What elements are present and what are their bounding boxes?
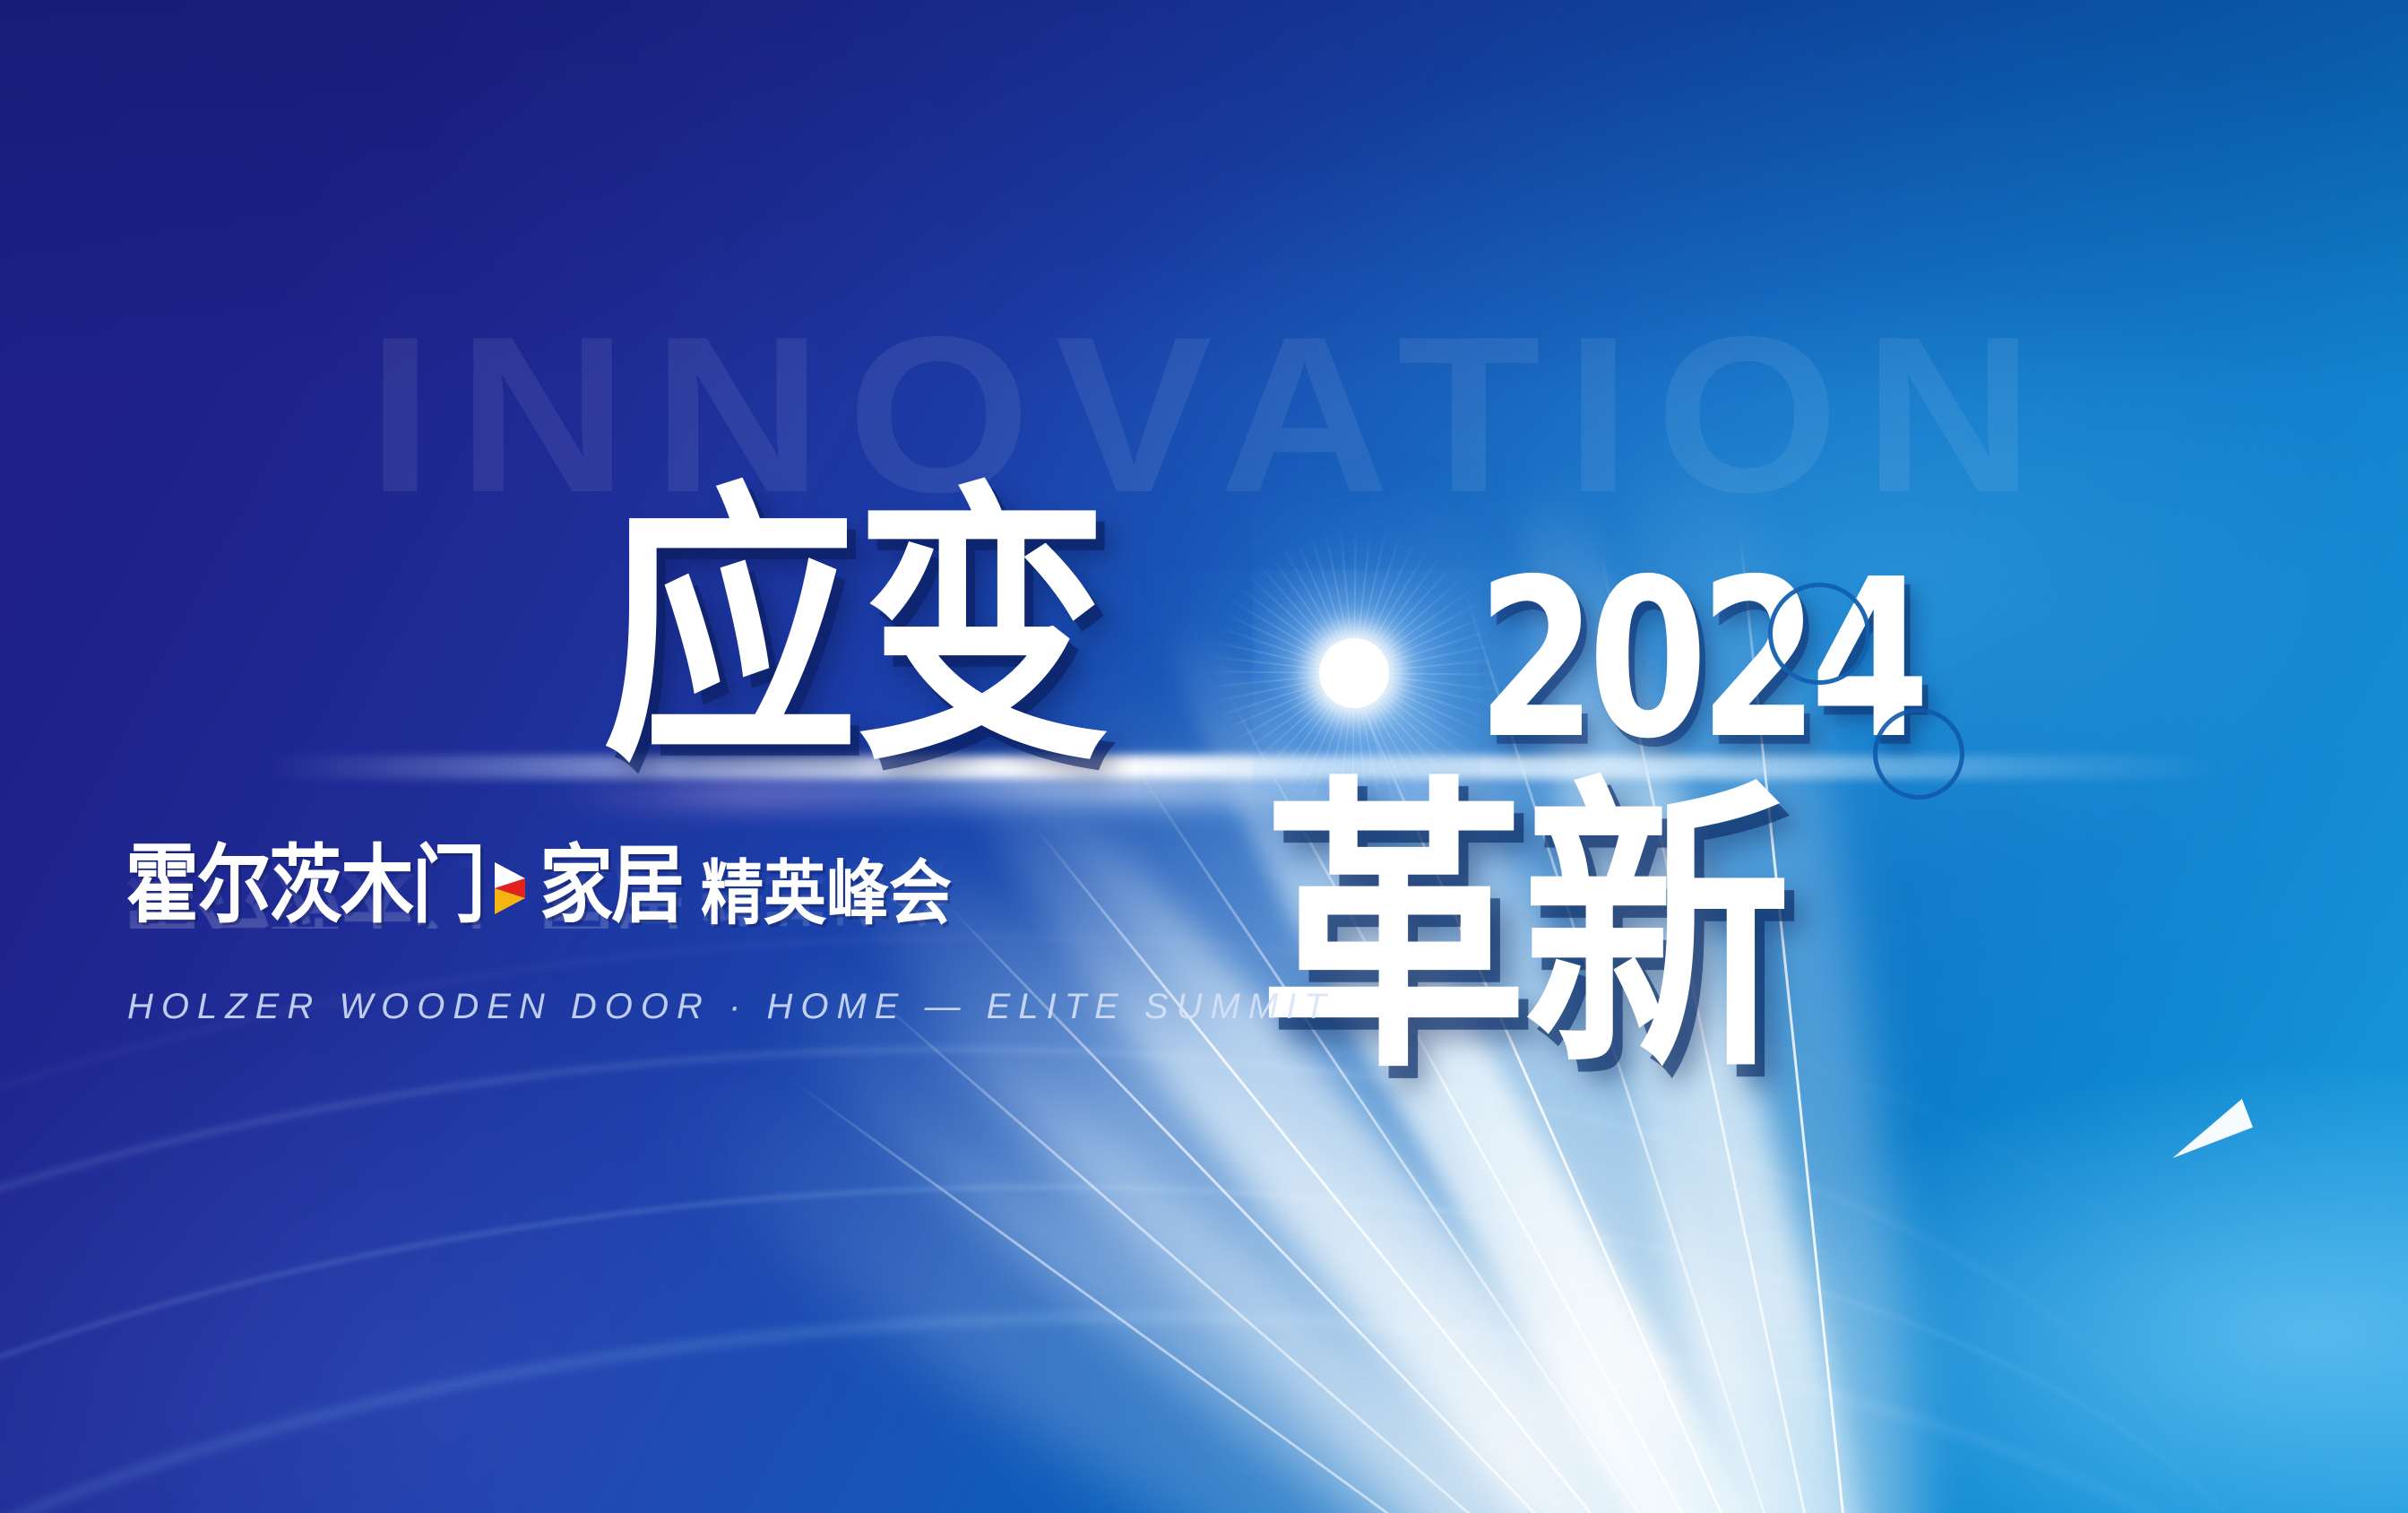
horizon-light-line <box>269 756 2222 779</box>
beam-arrow-accent <box>2162 1099 2253 1158</box>
light-sweep-3 <box>0 1243 2408 1513</box>
light-sweep-2 <box>0 1091 2370 1513</box>
light-hairline-9 <box>792 1080 1881 1513</box>
subtitle-english: HOLZER WOODEN DOOR · HOME — ELITE SUMMIT <box>127 987 1334 1027</box>
year-label: 2024 <box>1477 551 1921 770</box>
headline-line-1: 应变 <box>602 484 1106 775</box>
brand-name-sub: 家居 <box>539 843 683 929</box>
brand-name-tail: 精英峰会 <box>701 859 952 929</box>
brand-lockup: 霍尔茨木门 家居 精英峰会 <box>125 852 952 929</box>
headline-line-2: 革新 <box>1259 778 1786 1085</box>
brand-name-main: 霍尔茨木门 <box>125 843 484 929</box>
glow-dot-icon <box>1319 638 1389 708</box>
poster-canvas: INNOVATION 应变 2024 革新 霍尔茨木门 家居 精英峰会 霍尔茨木… <box>0 0 2408 1513</box>
play-triangle-icon <box>495 852 531 925</box>
